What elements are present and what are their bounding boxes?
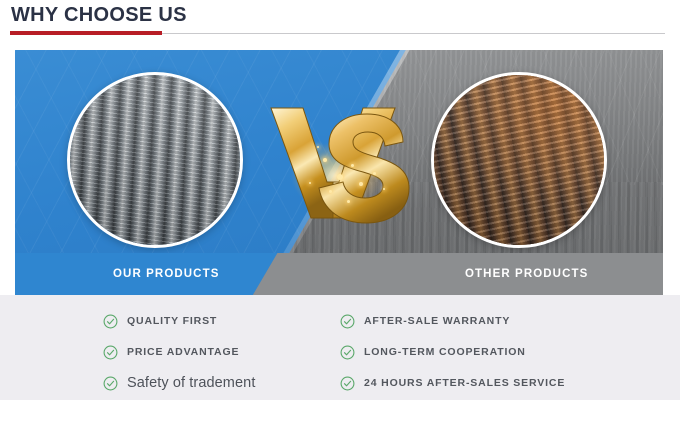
sparkle-particle bbox=[373, 172, 376, 175]
feature-item: 24 HOURS AFTER-SALES SERVICE bbox=[340, 369, 565, 397]
product-label-bar: OUR PRODUCTS OTHER PRODUCTS bbox=[15, 253, 663, 295]
feature-item: LONG-TERM COOPERATION bbox=[340, 338, 565, 366]
our-products-image bbox=[67, 72, 243, 248]
sparkle-particle bbox=[309, 182, 311, 184]
sparkle-particle bbox=[323, 158, 327, 162]
other-products-label: OTHER PRODUCTS bbox=[465, 253, 588, 295]
feature-item: QUALITY FIRST bbox=[103, 307, 255, 335]
sparkle-particle bbox=[317, 146, 319, 148]
features-section: QUALITY FIRST PRICE ADVANTAGE bbox=[0, 295, 680, 400]
feature-label: AFTER-SALE WARRANTY bbox=[364, 315, 510, 327]
header-accent-bar bbox=[10, 31, 162, 35]
feature-label: 24 HOURS AFTER-SALES SERVICE bbox=[364, 377, 565, 389]
section-header: WHY CHOOSE US bbox=[0, 0, 680, 40]
feature-label: QUALITY FIRST bbox=[127, 315, 217, 327]
features-column-right: AFTER-SALE WARRANTY LONG-TERM COOPERATIO… bbox=[340, 307, 565, 400]
feature-item: AFTER-SALE WARRANTY bbox=[340, 307, 565, 335]
sparkle-particle bbox=[329, 190, 332, 193]
comparison-banner: OUR PRODUCTS OTHER PRODUCTS bbox=[15, 50, 663, 295]
why-choose-us-page: WHY CHOOSE US bbox=[0, 0, 680, 422]
sparkle-particle bbox=[351, 164, 354, 167]
rusty-rebar-photo bbox=[434, 75, 604, 245]
feature-item: PRICE ADVANTAGE bbox=[103, 338, 255, 366]
page-title: WHY CHOOSE US bbox=[11, 4, 187, 27]
check-circle-icon bbox=[340, 314, 355, 329]
versus-badge bbox=[263, 90, 423, 235]
sparkle-particle bbox=[347, 200, 350, 203]
sparkle-particle bbox=[359, 182, 363, 186]
feature-label: LONG-TERM COOPERATION bbox=[364, 346, 526, 358]
footer-whitespace bbox=[0, 400, 680, 422]
check-circle-icon bbox=[340, 345, 355, 360]
check-circle-icon bbox=[103, 376, 118, 391]
feature-item: Safety of tradement bbox=[103, 369, 255, 397]
check-circle-icon bbox=[103, 345, 118, 360]
clean-rebar-photo bbox=[70, 75, 240, 245]
sparkle-particle bbox=[337, 174, 343, 180]
feature-label: PRICE ADVANTAGE bbox=[127, 346, 239, 358]
versus-letters-icon bbox=[263, 90, 423, 235]
feature-label: Safety of tradement bbox=[127, 375, 255, 391]
other-products-image bbox=[431, 72, 607, 248]
check-circle-icon bbox=[103, 314, 118, 329]
check-circle-icon bbox=[340, 376, 355, 391]
our-products-label: OUR PRODUCTS bbox=[113, 253, 219, 295]
sparkle-particle bbox=[383, 188, 385, 190]
features-column-left: QUALITY FIRST PRICE ADVANTAGE bbox=[103, 307, 255, 400]
